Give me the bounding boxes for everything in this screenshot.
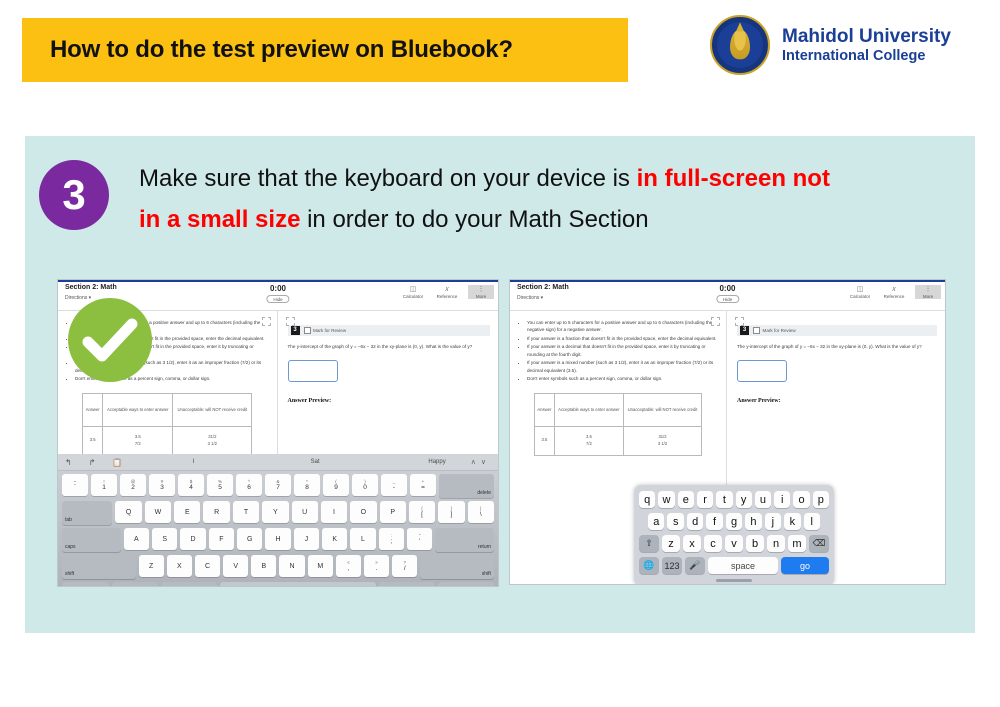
list-item: You can enter up to 5 characters for a p… <box>527 319 718 334</box>
answer-format-table: Answer Acceptable ways to enter answer U… <box>534 393 702 456</box>
answer-input[interactable] <box>737 360 787 382</box>
key-p[interactable]: p <box>813 491 829 508</box>
key-u[interactable]: U <box>292 501 318 523</box>
table-header-cell: Acceptable ways to enter answer <box>554 393 623 426</box>
key-delete[interactable]: delete <box>439 474 494 498</box>
key-o[interactable]: O <box>350 501 376 523</box>
bluebook-header-right: Section 2: Math Directions ▾ 0:00 Hide ◫… <box>510 282 945 311</box>
expand-icon[interactable] <box>711 317 720 326</box>
calculator-icon: ◫ <box>847 285 873 294</box>
instruction-part-3: in order to do your Math Section <box>300 206 648 233</box>
key-quote[interactable]: "' <box>407 528 432 550</box>
shift-arrow-icon[interactable]: ⇧ <box>639 535 659 552</box>
key-bracket-left[interactable]: {[ <box>409 501 435 523</box>
globe-icon[interactable]: 🌐 <box>639 557 659 574</box>
key-z[interactable]: z <box>662 535 680 552</box>
key-shift-left[interactable]: shift <box>62 555 136 579</box>
keyboard-number-row[interactable]: ~` !1 @2 #3 $4 %5 ^6 &7 *8 (9 )0 _- += d… <box>58 471 498 498</box>
table-header-cell: Answer <box>83 393 103 426</box>
key-i[interactable]: i <box>774 491 790 508</box>
bookmark-icon[interactable] <box>735 317 744 326</box>
calculator-button[interactable]: ◫Calculator <box>847 285 873 299</box>
keyboard-q-row[interactable]: tab Q W E R T Y U I O P {[ }] |\ <box>58 498 498 525</box>
more-button[interactable]: ⋮More <box>915 285 941 299</box>
key-2[interactable]: @2 <box>120 474 146 496</box>
table-cell: 3.5 <box>535 426 555 455</box>
reference-button[interactable]: 𝑥Reference <box>434 285 460 299</box>
key-f[interactable]: f <box>706 513 722 530</box>
key-k[interactable]: k <box>784 513 800 530</box>
key-caps[interactable]: caps <box>62 528 121 552</box>
key-v[interactable]: v <box>725 535 743 552</box>
key-backslash[interactable]: |\ <box>468 501 494 523</box>
float-row-2[interactable]: a s d f g h j k l <box>639 513 829 530</box>
directions-toggle[interactable]: Directions ▾ <box>517 295 543 301</box>
key-dismiss[interactable] <box>438 582 494 587</box>
suggestion-1[interactable]: I <box>132 459 254 465</box>
instruction-highlight-1: in full-screen not <box>637 165 830 192</box>
undo-icon[interactable]: ↰ <box>65 458 72 467</box>
key-v[interactable]: V <box>223 555 248 577</box>
key-c[interactable]: c <box>704 535 722 552</box>
key-l[interactable]: L <box>350 528 375 550</box>
key-d[interactable]: d <box>687 513 703 530</box>
drag-handle-icon[interactable] <box>716 579 752 582</box>
key-w[interactable]: W <box>145 501 171 523</box>
key-numbers[interactable] <box>112 582 159 587</box>
key-o[interactable]: o <box>793 491 809 508</box>
table-header-cell: Unacceptable: will NOT receive credit <box>624 393 702 426</box>
expand-icon[interactable] <box>262 317 271 326</box>
table-row: 3.5 3.57/2 31/23 1/2 <box>83 426 252 455</box>
key-semicolon[interactable]: :; <box>379 528 404 550</box>
mark-for-review-checkbox[interactable]: Mark for Review <box>753 327 796 334</box>
key-emoji[interactable] <box>379 582 435 587</box>
floating-small-keyboard[interactable]: q w e r t y u i o p a s d f g h j k l ⇧ … <box>634 485 834 585</box>
question-number: 3 <box>740 326 749 335</box>
key-equals[interactable]: += <box>410 474 436 496</box>
directions-list: You can enter up to 5 characters for a p… <box>527 319 718 383</box>
keyboard-a-row[interactable]: caps A S D F G H J K L :; "' return <box>58 525 498 552</box>
key-u[interactable]: u <box>755 491 771 508</box>
calculator-button[interactable]: ◫Calculator <box>400 285 426 299</box>
table-cell: 31/23 1/2 <box>173 426 252 455</box>
page-title: How to do the test preview on Bluebook? <box>22 36 513 64</box>
key-t[interactable]: t <box>716 491 732 508</box>
key-c[interactable]: C <box>195 555 220 577</box>
more-icon: ⋮ <box>468 285 494 294</box>
key-j[interactable]: J <box>294 528 319 550</box>
university-seal-icon <box>710 15 770 75</box>
instruction-part-1: Make sure that the keyboard on your devi… <box>139 165 637 192</box>
key-5[interactable]: %5 <box>207 474 233 496</box>
key-period[interactable]: >. <box>364 555 389 577</box>
key-k[interactable]: K <box>322 528 347 550</box>
table-header-cell: Acceptable ways to enter answer <box>103 393 173 426</box>
key-h[interactable]: H <box>265 528 290 550</box>
table-header-cell: Answer <box>535 393 555 426</box>
more-icon: ⋮ <box>915 285 941 294</box>
key-h[interactable]: h <box>745 513 761 530</box>
redo-icon[interactable]: ↱ <box>89 458 96 467</box>
list-item: If your answer is a mixed number (such a… <box>527 359 718 374</box>
question-bar: 3 Mark for Review <box>737 325 937 336</box>
key-6[interactable]: ^6 <box>236 474 262 496</box>
table-row: 3.5 3.57/2 31/23 1/2 <box>535 426 702 455</box>
key-y[interactable]: y <box>736 491 752 508</box>
key-m[interactable]: m <box>788 535 806 552</box>
key-a[interactable]: A <box>124 528 149 550</box>
clipboard-icon[interactable]: 📋 <box>112 458 122 467</box>
keyboard-suggestion-bar[interactable]: ↰ ↱ 📋 I Sat Happy ∧∨ <box>58 454 498 471</box>
reference-icon: 𝑥 <box>434 285 460 294</box>
instruction-highlight-2: in a small size <box>139 206 300 233</box>
key-globe[interactable] <box>62 582 109 587</box>
key-tab[interactable]: tab <box>62 501 112 525</box>
key-shift-right[interactable]: shift <box>420 555 494 579</box>
table-header-cell: Unacceptable: will NOT receive credit <box>173 393 252 426</box>
key-g[interactable]: G <box>237 528 262 550</box>
key-return[interactable]: return <box>435 528 494 552</box>
key-q[interactable]: Q <box>115 501 141 523</box>
question-text: The y-intercept of the graph of y = −6x … <box>288 343 491 351</box>
key-e[interactable]: e <box>678 491 694 508</box>
screenshot-small-keyboard: Section 2: Math Directions ▾ 0:00 Hide ◫… <box>509 279 946 585</box>
list-item: If your answer is a fraction that doesn'… <box>527 335 718 342</box>
key-j[interactable]: j <box>765 513 781 530</box>
suggestion-2[interactable]: Sat <box>254 459 376 465</box>
key-space[interactable] <box>220 582 376 587</box>
backspace-icon[interactable]: ⌫ <box>809 535 829 552</box>
answer-preview-label: Answer Preview: <box>288 398 491 404</box>
key-4[interactable]: $4 <box>178 474 204 496</box>
list-item: If your answer is a decimal that doesn't… <box>527 343 718 358</box>
key-x[interactable]: X <box>167 555 192 577</box>
hide-timer-button[interactable]: Hide <box>266 295 289 303</box>
list-item: Don't enter symbols such as a percent si… <box>527 375 718 382</box>
table-cell: 3.5 <box>83 426 103 455</box>
table-row: Answer Acceptable ways to enter answer U… <box>535 393 702 426</box>
key-g[interactable]: g <box>726 513 742 530</box>
keyboard-bottom-row[interactable] <box>58 579 498 587</box>
key-1[interactable]: !1 <box>91 474 117 496</box>
key-backtick[interactable]: ~` <box>62 474 88 496</box>
reference-button[interactable]: 𝑥Reference <box>881 285 907 299</box>
key-p[interactable]: P <box>380 501 406 523</box>
key-s[interactable]: S <box>152 528 177 550</box>
question-text: The y-intercept of the graph of y = −6x … <box>737 343 937 351</box>
microphone-icon[interactable]: 🎤 <box>685 557 705 574</box>
reference-icon: 𝑥 <box>881 285 907 294</box>
key-bracket-right[interactable]: }] <box>438 501 464 523</box>
table-cell: 3.57/2 <box>554 426 623 455</box>
hide-timer-button[interactable]: Hide <box>716 295 739 303</box>
logo-line-2: International College <box>782 48 951 64</box>
float-row-1[interactable]: q w e r t y u i o p <box>639 491 829 508</box>
key-l[interactable]: l <box>804 513 820 530</box>
step-number: 3 <box>62 174 85 216</box>
mark-for-review-checkbox[interactable]: Mark for Review <box>304 327 347 334</box>
key-comma[interactable]: <, <box>336 555 361 577</box>
key-8[interactable]: *8 <box>294 474 320 496</box>
keyboard-z-row[interactable]: shift Z X C V B N M <, >. ?/ shift <box>58 552 498 579</box>
float-row-4[interactable]: 🌐 123 🎤 space go <box>639 557 829 574</box>
university-logo: Mahidol University International College <box>710 14 975 76</box>
key-a[interactable]: a <box>648 513 664 530</box>
green-check-icon <box>68 298 152 382</box>
key-b[interactable]: B <box>251 555 276 577</box>
key-w[interactable]: w <box>658 491 674 508</box>
key-s[interactable]: s <box>667 513 683 530</box>
go-key[interactable]: go <box>781 557 829 574</box>
table-cell: 31/23 1/2 <box>624 426 702 455</box>
key-9[interactable]: (9 <box>323 474 349 496</box>
key-d[interactable]: D <box>180 528 205 550</box>
calculator-icon: ◫ <box>400 285 426 294</box>
key-r[interactable]: R <box>203 501 229 523</box>
key-f[interactable]: F <box>209 528 234 550</box>
step-instruction-text: Make sure that the keyboard on your devi… <box>139 158 949 241</box>
key-mic[interactable] <box>161 582 217 587</box>
chevron-up-down-icon[interactable]: ∧∨ <box>471 458 491 466</box>
key-7[interactable]: &7 <box>265 474 291 496</box>
step-number-badge: 3 <box>39 160 109 230</box>
answer-input[interactable] <box>288 360 338 382</box>
table-row: Answer Acceptable ways to enter answer U… <box>83 393 252 426</box>
full-screen-keyboard[interactable]: ↰ ↱ 📋 I Sat Happy ∧∨ ~` !1 @2 #3 $4 %5 ^… <box>58 454 498 586</box>
key-m[interactable]: M <box>308 555 333 577</box>
key-y[interactable]: Y <box>262 501 288 523</box>
key-0[interactable]: )0 <box>352 474 378 496</box>
key-t[interactable]: T <box>233 501 259 523</box>
logo-line-1: Mahidol University <box>782 26 951 47</box>
key-3[interactable]: #3 <box>149 474 175 496</box>
key-z[interactable]: Z <box>139 555 164 577</box>
question-bar: 3 Mark for Review <box>288 325 491 336</box>
key-r[interactable]: r <box>697 491 713 508</box>
key-minus[interactable]: _- <box>381 474 407 496</box>
key-b[interactable]: b <box>746 535 764 552</box>
key-x[interactable]: x <box>683 535 701 552</box>
key-slash[interactable]: ?/ <box>392 555 417 577</box>
slide-title-bar: How to do the test preview on Bluebook? <box>22 18 628 82</box>
key-n[interactable]: N <box>279 555 304 577</box>
question-pane-left: 3 Mark for Review The y-intercept of the… <box>278 311 499 456</box>
table-cell: 3.57/2 <box>103 426 173 455</box>
question-number: 3 <box>291 326 300 335</box>
key-q[interactable]: q <box>639 491 655 508</box>
key-n[interactable]: n <box>767 535 785 552</box>
checkbox-icon <box>304 327 311 334</box>
key-i[interactable]: I <box>321 501 347 523</box>
space-key[interactable]: space <box>708 557 778 574</box>
more-button[interactable]: ⋮More <box>468 285 494 299</box>
answer-format-table: Answer Acceptable ways to enter answer U… <box>82 393 252 456</box>
float-row-3[interactable]: ⇧ z x c v b n m ⌫ <box>639 535 829 552</box>
bookmark-icon[interactable] <box>286 317 295 326</box>
key-e[interactable]: E <box>174 501 200 523</box>
numbers-key[interactable]: 123 <box>662 557 682 574</box>
answer-preview-label: Answer Preview: <box>737 398 937 404</box>
checkbox-icon <box>753 327 760 334</box>
